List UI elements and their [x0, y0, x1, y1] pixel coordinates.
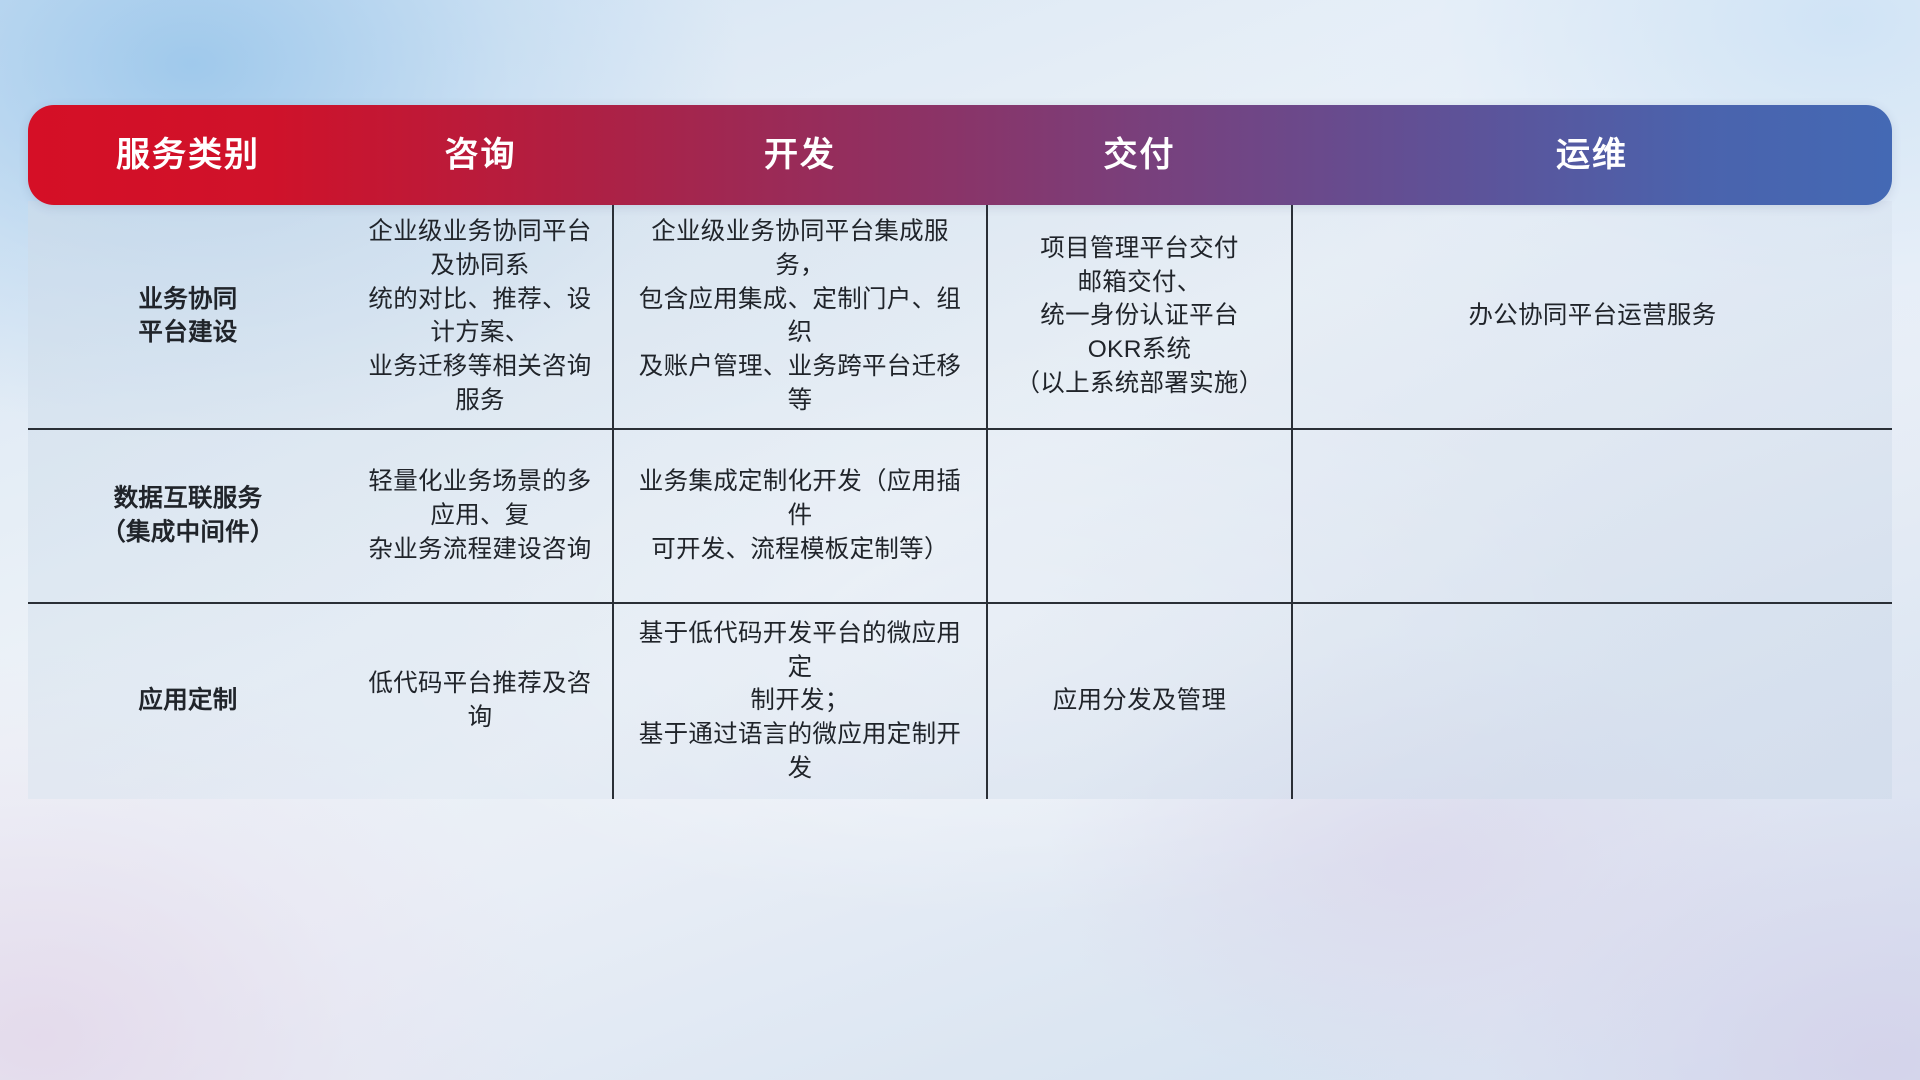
- cell-r1-delivery: 项目管理平台交付邮箱交付、统一身份认证平台OKR系统（以上系统部署实施）: [987, 205, 1292, 429]
- cell-r1-consulting: 企业级业务协同平台及协同系统的对比、推荐、设计方案、业务迁移等相关咨询服务: [348, 205, 613, 429]
- table-row: 业务协同平台建设 企业级业务协同平台及协同系统的对比、推荐、设计方案、业务迁移等…: [28, 205, 1892, 429]
- cell-r3-consulting: 低代码平台推荐及咨询: [348, 603, 613, 799]
- row-label-business-collaboration: 业务协同平台建设: [28, 205, 348, 429]
- cell-r3-delivery: 应用分发及管理: [987, 603, 1292, 799]
- row-label-data-interconnect: 数据互联服务（集成中间件）: [28, 429, 348, 603]
- table-row: 数据互联服务（集成中间件） 轻量化业务场景的多应用、复杂业务流程建设咨询 业务集…: [28, 429, 1892, 603]
- cell-r2-consulting: 轻量化业务场景的多应用、复杂业务流程建设咨询: [348, 429, 613, 603]
- cell-r2-development: 业务集成定制化开发（应用插件可开发、流程模板定制等）: [613, 429, 987, 603]
- service-matrix-table: 服务类别 咨询 开发 交付 运维 业务协同平台建设 企业级业务协同平台及协同系统…: [28, 105, 1892, 799]
- column-header-delivery: 交付: [987, 138, 1292, 172]
- table-body: 业务协同平台建设 企业级业务协同平台及协同系统的对比、推荐、设计方案、业务迁移等…: [28, 201, 1892, 799]
- cell-r3-development: 基于低代码开发平台的微应用定制开发；基于通过语言的微应用定制开发: [613, 603, 987, 799]
- column-header-category: 服务类别: [28, 138, 348, 172]
- cell-r2-delivery: [987, 429, 1292, 603]
- column-header-operations: 运维: [1292, 138, 1892, 172]
- table-row: 应用定制 低代码平台推荐及咨询 基于低代码开发平台的微应用定制开发；基于通过语言…: [28, 603, 1892, 799]
- cell-r1-operations: 办公协同平台运营服务: [1292, 205, 1892, 429]
- column-header-consulting: 咨询: [348, 138, 613, 172]
- table-header-row: 服务类别 咨询 开发 交付 运维: [28, 105, 1892, 205]
- row-label-app-customization: 应用定制: [28, 603, 348, 799]
- column-header-development: 开发: [613, 138, 987, 172]
- cell-r3-operations: [1292, 603, 1892, 799]
- cell-r1-development: 企业级业务协同平台集成服务，包含应用集成、定制门户、组织及账户管理、业务跨平台迁…: [613, 205, 987, 429]
- cell-r2-operations: [1292, 429, 1892, 603]
